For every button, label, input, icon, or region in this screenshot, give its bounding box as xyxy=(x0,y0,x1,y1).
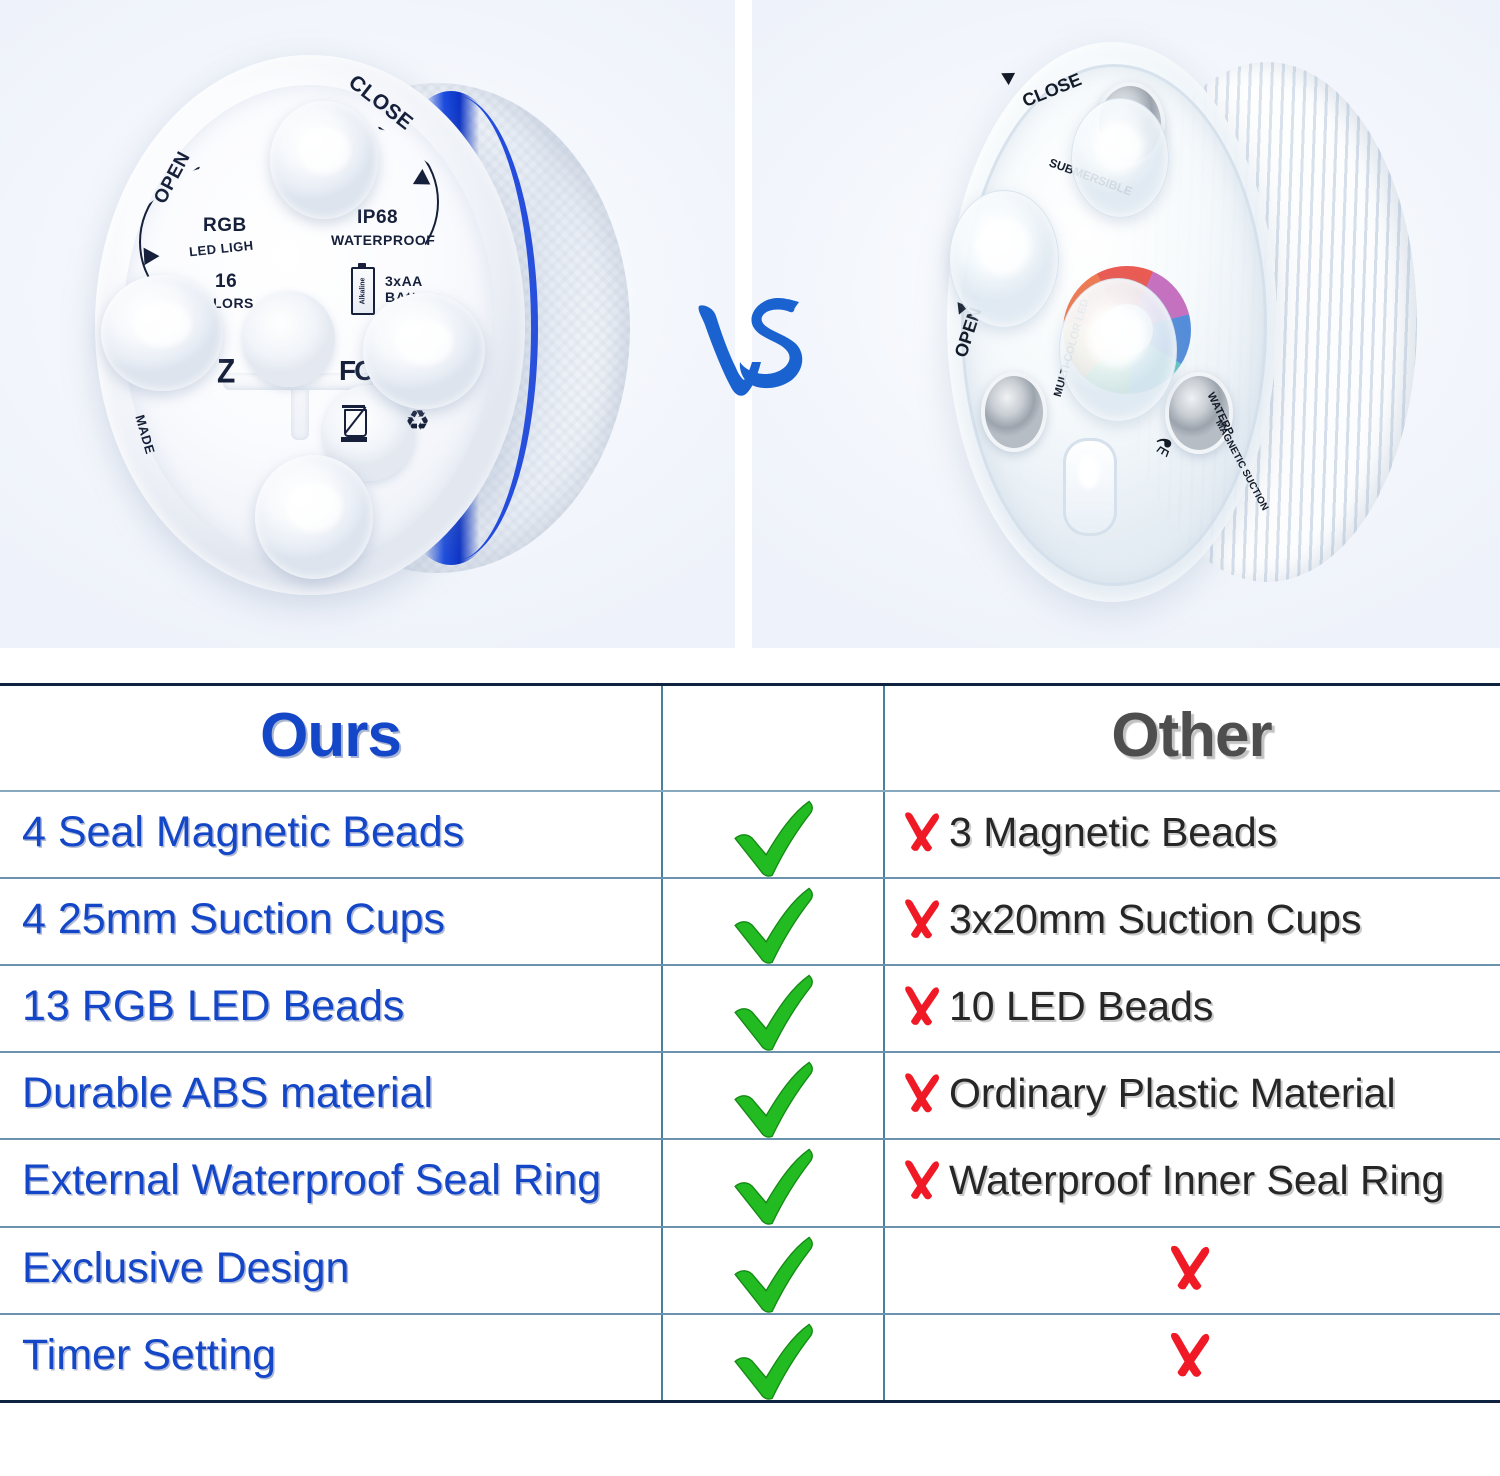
cell-ours-feature: Exclusive Design xyxy=(0,1228,663,1313)
ours-feature-label: 13 RGB LED Beads xyxy=(22,979,661,1033)
marking-color-count: 16 xyxy=(215,271,237,293)
ours-feature-label: External Waterproof Seal Ring xyxy=(22,1153,661,1207)
other-product-panel: CLOSE OPEN SUBMERSIBLE MULTI-COLOR LED W… xyxy=(752,0,1500,648)
brand-logo-icon: Z xyxy=(217,352,232,391)
cell-other-feature: 10 LED Beads xyxy=(885,966,1498,1051)
other-feature-label: 3 Magnetic Beads xyxy=(949,805,1277,859)
other-close-arrow-icon xyxy=(1001,67,1019,85)
cell-ours-mark xyxy=(663,879,885,964)
suction-cup-left xyxy=(101,275,223,391)
cross-icon xyxy=(899,1157,945,1203)
cell-other-feature: 3 Magnetic Beads xyxy=(885,792,1498,877)
cell-other-feature: 3x20mm Suction Cups xyxy=(885,879,1498,964)
other-suction-cup-top-right xyxy=(1071,98,1169,218)
vs-badge xyxy=(693,290,811,400)
other-battery-slot xyxy=(1063,438,1117,536)
cross-icon xyxy=(1164,1242,1216,1294)
cell-other-feature: Waterproof Inner Seal Ring xyxy=(885,1140,1498,1225)
cross-icon xyxy=(899,983,945,1029)
cross-icon xyxy=(899,1070,945,1116)
cell-ours-mark xyxy=(663,1315,885,1400)
header-cell-other: Other xyxy=(885,686,1498,790)
column-title-ours: Ours xyxy=(0,696,661,776)
ours-product-panel: OPEN CLOSE RGB LED LIGH 16 COLORS IP68 W… xyxy=(0,0,735,648)
other-feature-label: 10 LED Beads xyxy=(949,979,1213,1033)
suction-cup-top xyxy=(270,101,378,219)
product-comparison-images: OPEN CLOSE RGB LED LIGH 16 COLORS IP68 W… xyxy=(0,0,1500,658)
ours-feature-label: 4 25mm Suction Cups xyxy=(22,892,661,946)
recycle-icon: ♻ xyxy=(405,407,430,435)
cell-ours-feature: Durable ABS material xyxy=(0,1053,663,1138)
other-feature-label: Ordinary Plastic Material xyxy=(949,1066,1396,1120)
marking-rgb: RGB xyxy=(203,215,247,237)
table-row: 4 Seal Magnetic Beads3 Magnetic Beads xyxy=(0,792,1500,879)
comparison-table: Ours Other 4 Seal Magnetic Beads3 Magnet… xyxy=(0,683,1500,1403)
header-cell-mark xyxy=(663,686,885,790)
table-row: External Waterproof Seal RingWaterproof … xyxy=(0,1140,1500,1227)
battery-line-1: 3xAA xyxy=(385,273,439,289)
cell-ours-mark xyxy=(663,966,885,1051)
cell-ours-feature: 4 25mm Suction Cups xyxy=(0,879,663,964)
cell-ours-feature: 13 RGB LED Beads xyxy=(0,966,663,1051)
column-title-other: Other xyxy=(885,696,1498,776)
cell-other-feature xyxy=(885,1228,1498,1313)
header-cell-ours: Ours xyxy=(0,686,663,790)
cell-ours-feature: 4 Seal Magnetic Beads xyxy=(0,792,663,877)
cell-ours-mark xyxy=(663,1228,885,1313)
check-icon xyxy=(730,1059,816,1138)
weee-bin-icon xyxy=(341,407,367,441)
cell-ours-mark xyxy=(663,792,885,877)
check-icon xyxy=(730,885,816,964)
battery-icon: Alkaline xyxy=(351,267,375,315)
battery-icon-label: Alkaline xyxy=(360,278,367,305)
other-suction-cup-center xyxy=(1059,278,1177,422)
cell-other-feature: Ordinary Plastic Material xyxy=(885,1053,1498,1138)
table-body: 4 Seal Magnetic Beads3 Magnetic Beads4 2… xyxy=(0,792,1500,1400)
cell-ours-mark xyxy=(663,1053,885,1138)
check-icon xyxy=(730,972,816,1051)
cell-ours-feature: Timer Setting xyxy=(0,1315,663,1400)
cell-other-feature xyxy=(885,1315,1498,1400)
ours-product-photo: OPEN CLOSE RGB LED LIGH 16 COLORS IP68 W… xyxy=(95,55,635,595)
suction-cup-right xyxy=(363,293,485,409)
cell-ours-mark xyxy=(663,1140,885,1225)
check-icon xyxy=(730,1146,816,1225)
other-suction-cup-left xyxy=(949,190,1059,328)
table-row: Exclusive Design xyxy=(0,1228,1500,1315)
marking-ip68: IP68 xyxy=(357,207,398,229)
suction-cup-bottom xyxy=(255,455,373,579)
check-icon xyxy=(730,798,816,877)
table-row: 4 25mm Suction Cups3x20mm Suction Cups xyxy=(0,879,1500,966)
table-row: Timer Setting xyxy=(0,1315,1500,1400)
cell-ours-feature: External Waterproof Seal Ring xyxy=(0,1140,663,1225)
ours-feature-label: Exclusive Design xyxy=(22,1241,661,1295)
cross-icon xyxy=(1164,1329,1216,1381)
check-icon xyxy=(730,1321,816,1400)
check-icon xyxy=(730,1234,816,1313)
table-row: Durable ABS materialOrdinary Plastic Mat… xyxy=(0,1053,1500,1140)
cross-icon xyxy=(899,809,945,855)
other-feature-label: 3x20mm Suction Cups xyxy=(949,892,1361,946)
marking-waterproof: WATERPROOF xyxy=(331,232,435,248)
cross-icon xyxy=(899,896,945,942)
other-feature-label: Waterproof Inner Seal Ring xyxy=(949,1153,1444,1207)
other-magnet-left xyxy=(981,372,1047,452)
table-header-row: Ours Other xyxy=(0,686,1500,792)
ours-feature-label: Timer Setting xyxy=(22,1328,661,1382)
table-row: 13 RGB LED Beads10 LED Beads xyxy=(0,966,1500,1053)
ours-led-nub-a xyxy=(243,291,335,387)
other-product-photo: CLOSE OPEN SUBMERSIBLE MULTI-COLOR LED W… xyxy=(947,42,1427,602)
vs-icon xyxy=(693,290,811,400)
ours-feature-label: Durable ABS material xyxy=(22,1066,661,1120)
ours-feature-label: 4 Seal Magnetic Beads xyxy=(22,805,661,859)
